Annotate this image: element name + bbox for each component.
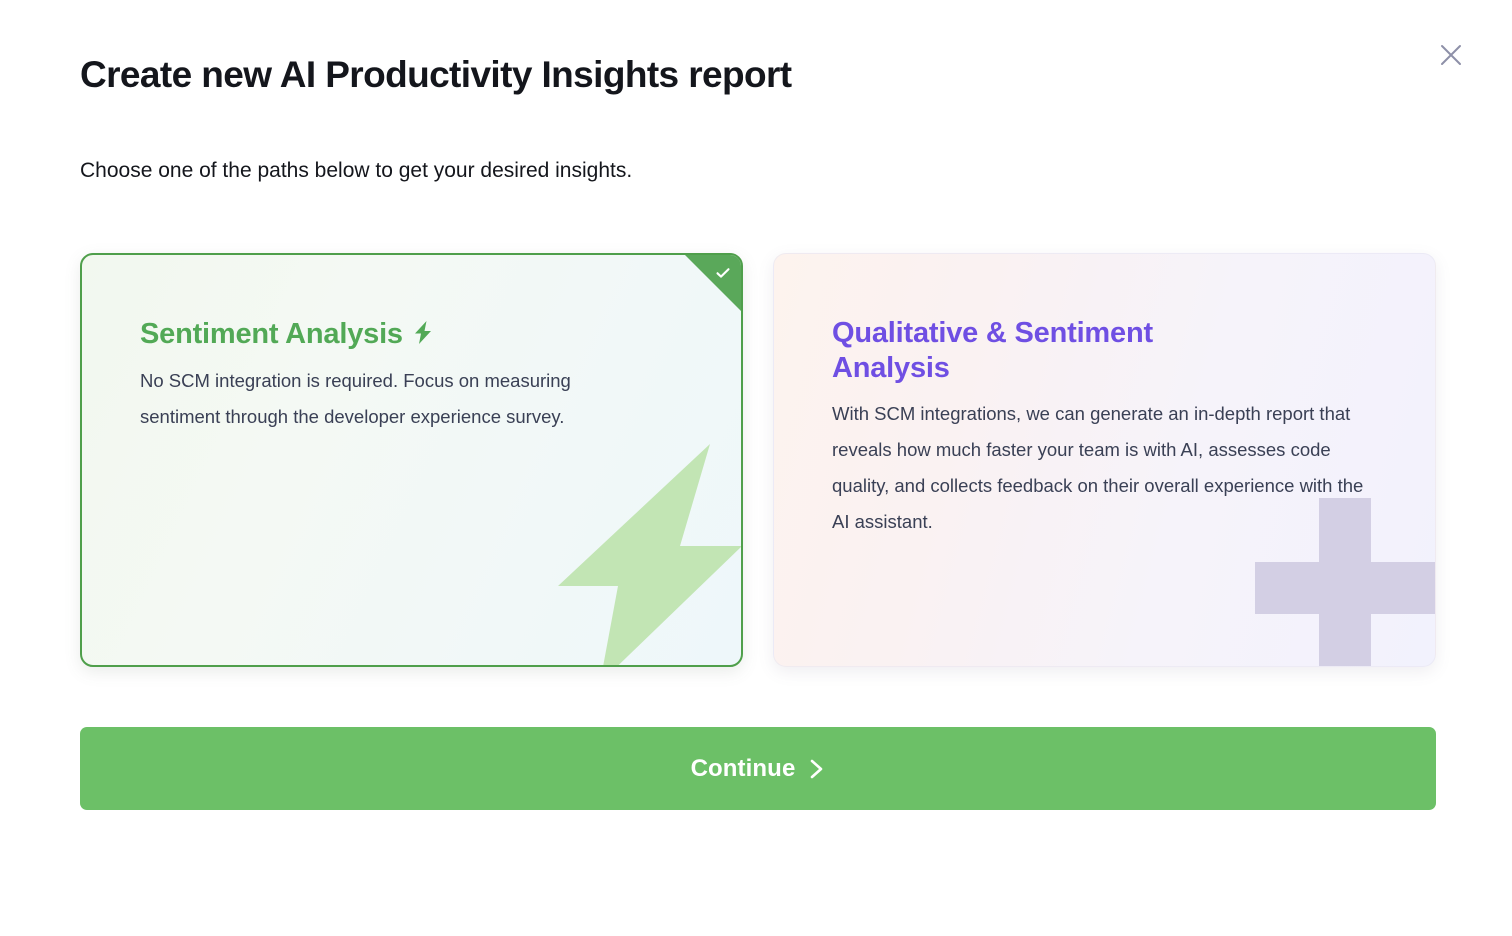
create-report-modal: Create new AI Productivity Insights repo…: [0, 0, 1512, 936]
check-icon: [714, 264, 732, 282]
lightning-bolt-decoration-icon: [514, 436, 743, 667]
card-heading-qualitative: Qualitative & Sentiment Analysis: [832, 316, 1377, 387]
card-description-qualitative: With SCM integrations, we can generate a…: [832, 396, 1372, 540]
close-button[interactable]: [1434, 38, 1468, 72]
card-content: Sentiment Analysis No SCM integration is…: [82, 255, 741, 436]
card-heading-text: Sentiment Analysis: [140, 318, 403, 350]
continue-button[interactable]: Continue: [80, 727, 1436, 810]
page-subtitle: Choose one of the paths below to get you…: [80, 157, 632, 185]
path-card-sentiment-analysis[interactable]: Sentiment Analysis No SCM integration is…: [80, 253, 743, 667]
page-title: Create new AI Productivity Insights repo…: [80, 52, 792, 98]
lightning-bolt-icon: [412, 319, 433, 354]
badge-triangle: [685, 255, 741, 311]
path-options-list: Sentiment Analysis No SCM integration is…: [80, 253, 1436, 667]
card-heading-text-line2: Analysis: [832, 352, 950, 384]
path-card-qualitative-sentiment-analysis[interactable]: Qualitative & Sentiment Analysis With SC…: [773, 253, 1436, 667]
card-content: Qualitative & Sentiment Analysis With SC…: [774, 254, 1435, 540]
card-description-sentiment: No SCM integration is required. Focus on…: [140, 363, 645, 435]
card-heading-text-line1: Qualitative & Sentiment: [832, 317, 1153, 349]
card-heading-sentiment: Sentiment Analysis: [140, 317, 683, 354]
continue-button-label: Continue: [691, 755, 796, 783]
close-icon: [1438, 42, 1464, 68]
chevron-right-icon: [809, 758, 825, 780]
selected-badge: [685, 255, 741, 311]
